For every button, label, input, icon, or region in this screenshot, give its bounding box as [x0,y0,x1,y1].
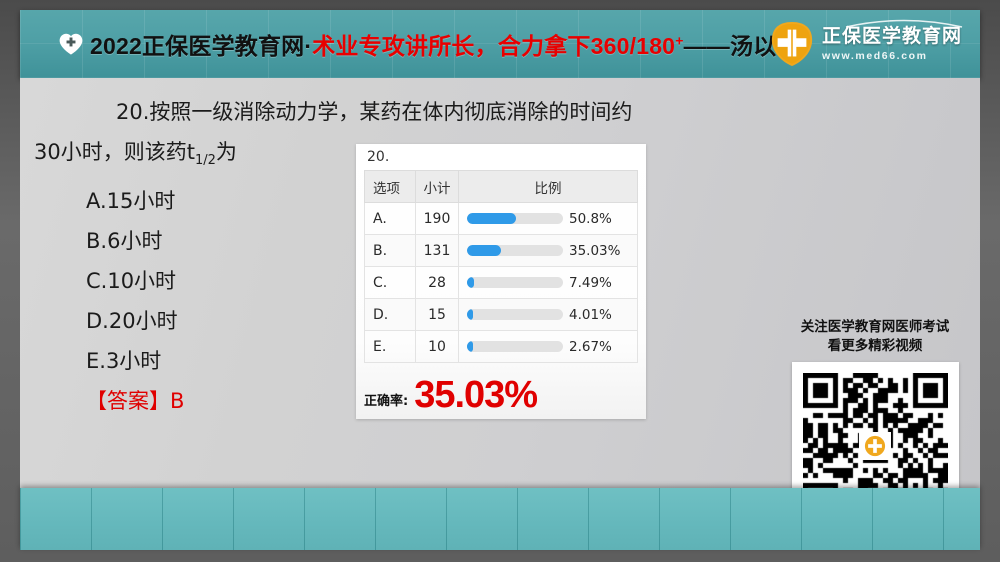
brand-logo: 正保医学教育网 www.med66.com [769,21,962,67]
cell-count: 190 [416,203,459,235]
cell-ratio: 2.67% [459,331,638,363]
cell-option: A. [365,203,416,235]
header-title-superscript: + [675,32,683,48]
cell-ratio: 4.01% [459,299,638,331]
table-row: A. 190 50.8% [365,203,638,235]
bar-fill [467,213,516,224]
correct-rate-value: 35.03% [414,377,537,413]
percent-label: 35.03% [569,243,620,259]
bar-track [467,245,563,256]
bar-track [467,277,563,288]
percent-label: 2.67% [569,339,612,355]
bar-track [467,309,563,320]
column-header-option: 选项 [365,171,416,203]
percent-label: 50.8% [569,211,612,227]
correct-rate-row: 正确率: 35.03% [364,377,537,413]
slide-body: 20.按照一级消除动力学，某药在体内彻底消除的时间约 30小时，则该药t1/2为… [20,78,980,510]
bar-track [467,341,563,352]
cell-option: E. [365,331,416,363]
question-halflife-subscript: 1/2 [195,153,216,168]
column-header-count: 小计 [416,171,459,203]
header-title-red: 术业专攻讲所长，合力拿下360/180 [312,33,675,59]
qr-caption-line-1: 关注医学教育网医师考试 [780,318,970,337]
percent-label: 7.49% [569,275,612,291]
question-line-2-pre: 30小时，则该药t [34,140,195,164]
cell-count: 15 [416,299,459,331]
slide-header-banner: 2022正保医学教育网·术业专攻讲所长，合力拿下360/180+——汤以恒 正保… [20,10,980,78]
bar-fill [467,341,473,352]
cell-count: 28 [416,267,459,299]
table-header-row: 选项 小计 比例 [365,171,638,203]
question-line-1: 20.按照一级消除动力学，某药在体内彻底消除的时间约 [68,92,708,132]
table-row: C. 28 7.49% [365,267,638,299]
table-row: E. 10 2.67% [365,331,638,363]
question-line-2-post: 为 [216,140,237,164]
correct-rate-label: 正确率: [364,390,408,413]
qr-center-logo-icon [859,432,891,460]
bar-fill [467,245,501,256]
table-body: A. 190 50.8% B. 1 [365,203,638,363]
percent-label: 4.01% [569,307,612,323]
cell-ratio: 7.49% [459,267,638,299]
bar-track [467,213,563,224]
cell-count: 10 [416,331,459,363]
slide-canvas: 2022正保医学教育网·术业专攻讲所长，合力拿下360/180+——汤以恒 正保… [0,0,1000,562]
slide-footer-band [20,488,980,550]
table-row: B. 131 35.03% [365,235,638,267]
column-header-ratio: 比例 [459,171,638,203]
stats-question-number: 20. [367,149,389,165]
cell-ratio: 35.03% [459,235,638,267]
bar-fill [467,277,474,288]
bar-fill [467,309,473,320]
table-row: D. 15 4.01% [365,299,638,331]
heart-cross-icon [58,31,84,57]
logo-name-cn: 正保医学教育网 [822,27,962,46]
header-title: 2022正保医学教育网·术业专攻讲所长，合力拿下360/180+——汤以恒 [90,27,800,61]
logo-url: www.med66.com [822,51,962,62]
statistics-panel: 20. 选项 小计 比例 A. 190 [356,144,646,419]
cell-count: 131 [416,235,459,267]
header-title-prefix: 2022正保医学教育网· [90,33,312,59]
cell-option: B. [365,235,416,267]
statistics-table: 选项 小计 比例 A. 190 [364,170,638,363]
qr-caption-line-2: 看更多精彩视频 [780,337,970,356]
cell-option: D. [365,299,416,331]
cell-ratio: 50.8% [459,203,638,235]
cell-option: C. [365,267,416,299]
logo-cross-shield-icon [769,21,815,67]
logo-arc-decoration [844,18,964,28]
